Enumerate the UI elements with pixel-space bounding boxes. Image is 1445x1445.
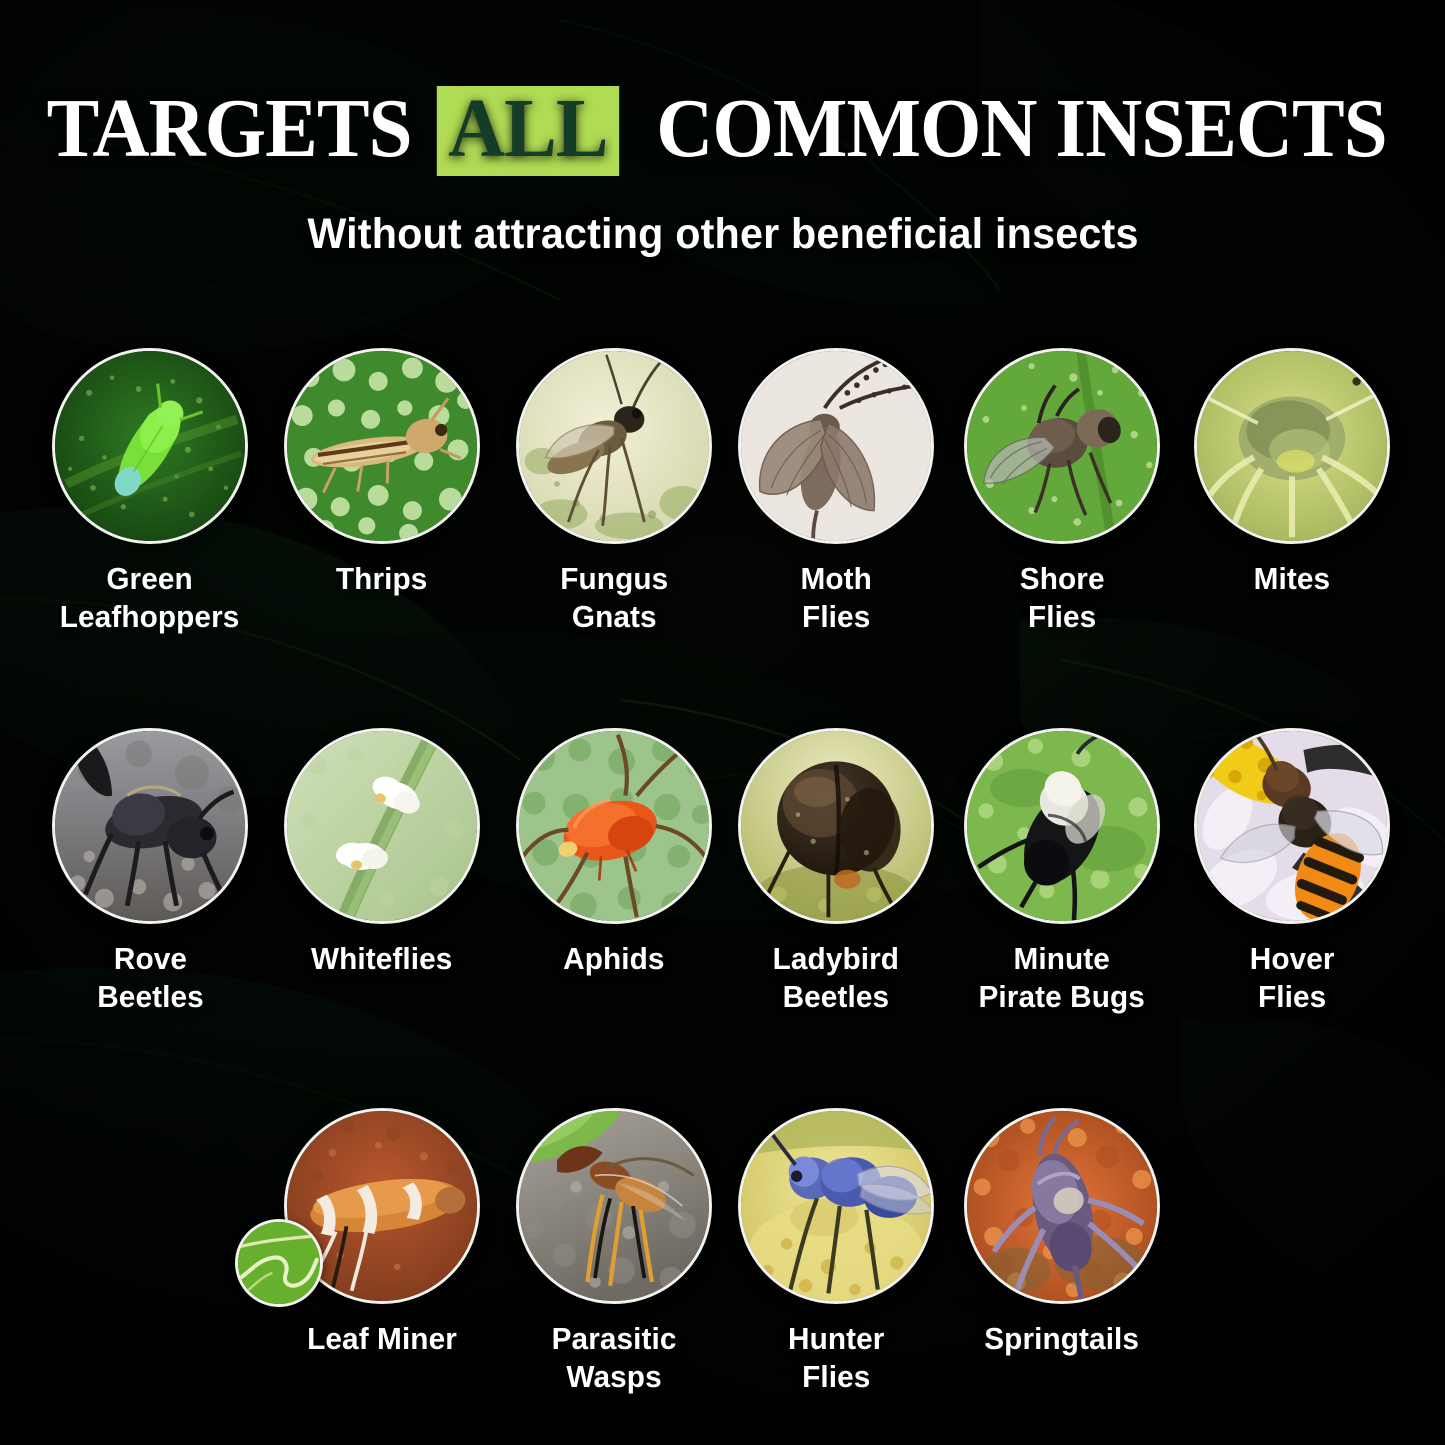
insect-label-hunter-flies: Hunter Flies — [736, 1320, 936, 1396]
insect-photo-fungus-gnats[interactable] — [516, 348, 712, 544]
insect-cell-rove-beetles[interactable]: Rove Beetles — [50, 728, 250, 1016]
insect-label-text: Hover Flies — [1250, 940, 1335, 1016]
insect-cell-aphids[interactable]: Aphids — [514, 728, 714, 978]
insect-label-text: Leaf Miner — [307, 1320, 457, 1358]
insect-label-text: Shore Flies — [1020, 560, 1105, 636]
insect-label-moth-flies: Moth Flies — [736, 560, 936, 636]
insect-cell-moth-flies[interactable]: Moth Flies — [736, 348, 936, 636]
insect-photo-rove-beetles[interactable] — [52, 728, 248, 924]
page-subtitle: Without attracting other beneficial inse… — [0, 208, 1445, 260]
insect-label-text: Springtails — [985, 1320, 1140, 1358]
insect-cell-hunter-flies[interactable]: Hunter Flies — [736, 1108, 936, 1396]
insect-photo-parasitic-wasps[interactable] — [516, 1108, 712, 1304]
insect-cell-springtails[interactable]: Springtails — [962, 1108, 1162, 1358]
insect-label-springtails: Springtails — [962, 1320, 1162, 1358]
insect-label-leaf-miner: Leaf Miner — [282, 1320, 482, 1358]
insect-photo-mites[interactable] — [1194, 348, 1390, 544]
insect-label-aphids: Aphids — [514, 940, 714, 978]
headline-after: COMMON INSECTS — [656, 84, 1386, 174]
insect-label-green-leafhoppers: Green Leafhoppers — [50, 560, 250, 636]
insect-cell-shore-flies[interactable]: Shore Flies — [962, 348, 1162, 636]
page-headline: TARGETSALLCOMMON INSECTS — [0, 84, 1445, 176]
insect-cell-whiteflies[interactable]: Whiteflies — [282, 728, 482, 978]
subtitle-text: Without attracting other beneficial inse… — [307, 208, 1138, 260]
insect-label-ladybird-beetles: Ladybird Beetles — [736, 940, 936, 1016]
insect-label-text: Fungus Gnats — [560, 560, 668, 636]
insect-photo-whiteflies[interactable] — [284, 728, 480, 924]
insect-cell-hover-flies[interactable]: Hover Flies — [1192, 728, 1392, 1016]
insect-photo-ladybird-beetles[interactable] — [738, 728, 934, 924]
insect-label-parasitic-wasps: Parasitic Wasps — [514, 1320, 714, 1396]
insect-label-hover-flies: Hover Flies — [1192, 940, 1392, 1016]
insect-photo-thrips[interactable] — [284, 348, 480, 544]
insect-label-minute-pirate-bugs: Minute Pirate Bugs — [962, 940, 1162, 1016]
insect-cell-green-leafhoppers[interactable]: Green Leafhoppers — [50, 348, 250, 636]
headline-before: TARGETS — [47, 84, 412, 174]
insect-label-text: Ladybird Beetles — [773, 940, 899, 1016]
insect-label-text: Whiteflies — [311, 940, 453, 978]
insect-label-text: Hunter Flies — [788, 1320, 884, 1396]
insect-label-thrips: Thrips — [282, 560, 482, 598]
insect-photo-moth-flies[interactable] — [738, 348, 934, 544]
insect-label-text: Green Leafhoppers — [60, 560, 240, 636]
insect-photo-shore-flies[interactable] — [964, 348, 1160, 544]
leaf-mine-trail-badge — [235, 1219, 323, 1307]
insect-label-text: Mites — [1254, 560, 1331, 598]
insect-label-shore-flies: Shore Flies — [962, 560, 1162, 636]
insect-label-text: Aphids — [563, 940, 664, 978]
insect-label-rove-beetles: Rove Beetles — [50, 940, 250, 1016]
insect-photo-aphids[interactable] — [516, 728, 712, 924]
insect-cell-fungus-gnats[interactable]: Fungus Gnats — [514, 348, 714, 636]
insect-label-text: Rove Beetles — [97, 940, 204, 1016]
insect-photo-hunter-flies[interactable] — [738, 1108, 934, 1304]
insect-label-text: Moth Flies — [800, 560, 871, 636]
insect-cell-minute-pirate-bugs[interactable]: Minute Pirate Bugs — [962, 728, 1162, 1016]
insect-cell-thrips[interactable]: Thrips — [282, 348, 482, 598]
insect-cell-parasitic-wasps[interactable]: Parasitic Wasps — [514, 1108, 714, 1396]
insect-label-text: Parasitic Wasps — [552, 1320, 677, 1396]
insect-cell-ladybird-beetles[interactable]: Ladybird Beetles — [736, 728, 936, 1016]
insect-photo-springtails[interactable] — [964, 1108, 1160, 1304]
insect-cell-leaf-miner[interactable]: Leaf Miner — [282, 1108, 482, 1358]
insect-photo-hover-flies[interactable] — [1194, 728, 1390, 924]
insect-photo-green-leafhoppers[interactable] — [52, 348, 248, 544]
headline-highlight-all: ALL — [437, 86, 619, 176]
insect-label-whiteflies: Whiteflies — [282, 940, 482, 978]
insect-label-text: Thrips — [336, 560, 428, 598]
insect-photo-leaf-miner[interactable] — [284, 1108, 480, 1304]
insect-cell-mites[interactable]: Mites — [1192, 348, 1392, 598]
insect-label-text: Minute Pirate Bugs — [979, 940, 1145, 1016]
insect-label-mites: Mites — [1192, 560, 1392, 598]
insect-photo-minute-pirate-bugs[interactable] — [964, 728, 1160, 924]
insect-label-fungus-gnats: Fungus Gnats — [514, 560, 714, 636]
